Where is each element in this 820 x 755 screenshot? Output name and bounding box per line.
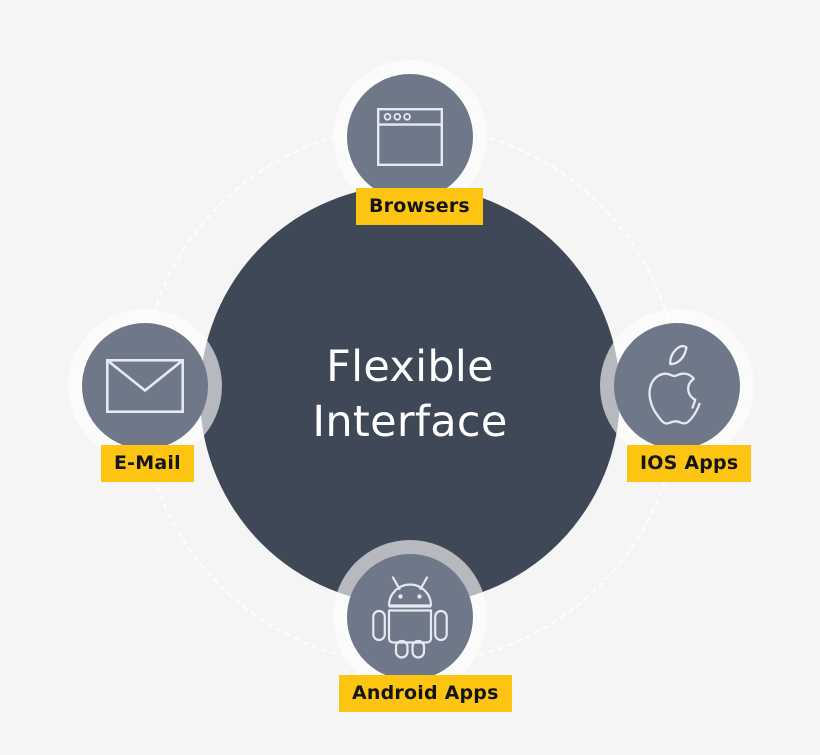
node-disc-ios: [614, 323, 740, 449]
android-robot-icon: [372, 575, 448, 659]
node-disc-email: [82, 323, 208, 449]
node-browsers[interactable]: [347, 74, 473, 200]
node-label-browsers[interactable]: Browsers: [356, 188, 483, 225]
node-label-android[interactable]: Android Apps: [339, 675, 512, 712]
node-label-ios[interactable]: IOS Apps: [627, 445, 751, 482]
node-android[interactable]: [347, 554, 473, 680]
node-ios[interactable]: [614, 323, 740, 449]
node-disc-browsers: [347, 74, 473, 200]
node-label-email[interactable]: E-Mail: [101, 445, 194, 482]
browser-window-icon: [377, 108, 443, 166]
node-email[interactable]: [82, 323, 208, 449]
envelope-icon: [106, 359, 184, 413]
apple-logo-icon: [642, 345, 712, 427]
diagram-canvas: Flexible Interface Browsers: [0, 0, 820, 755]
node-disc-android: [347, 554, 473, 680]
